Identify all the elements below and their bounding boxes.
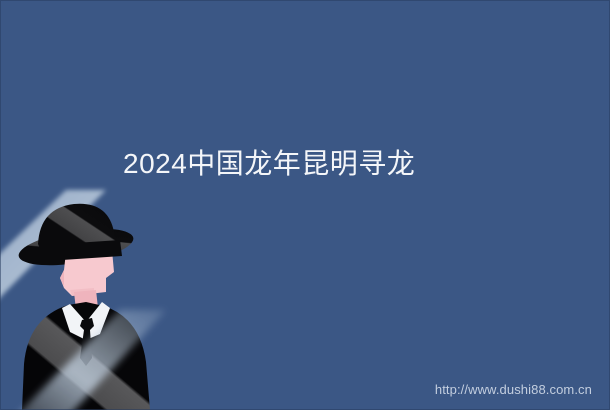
detective-silhouette-svg bbox=[0, 182, 200, 410]
page-title: 2024中国龙年昆明寻龙 bbox=[123, 146, 415, 182]
detective-illustration bbox=[0, 182, 200, 410]
watermark-url: http://www.dushi88.com.cn bbox=[435, 381, 592, 398]
banner-canvas: 2024中国龙年昆明寻龙 http://www.dushi88.com.cn bbox=[0, 0, 610, 410]
